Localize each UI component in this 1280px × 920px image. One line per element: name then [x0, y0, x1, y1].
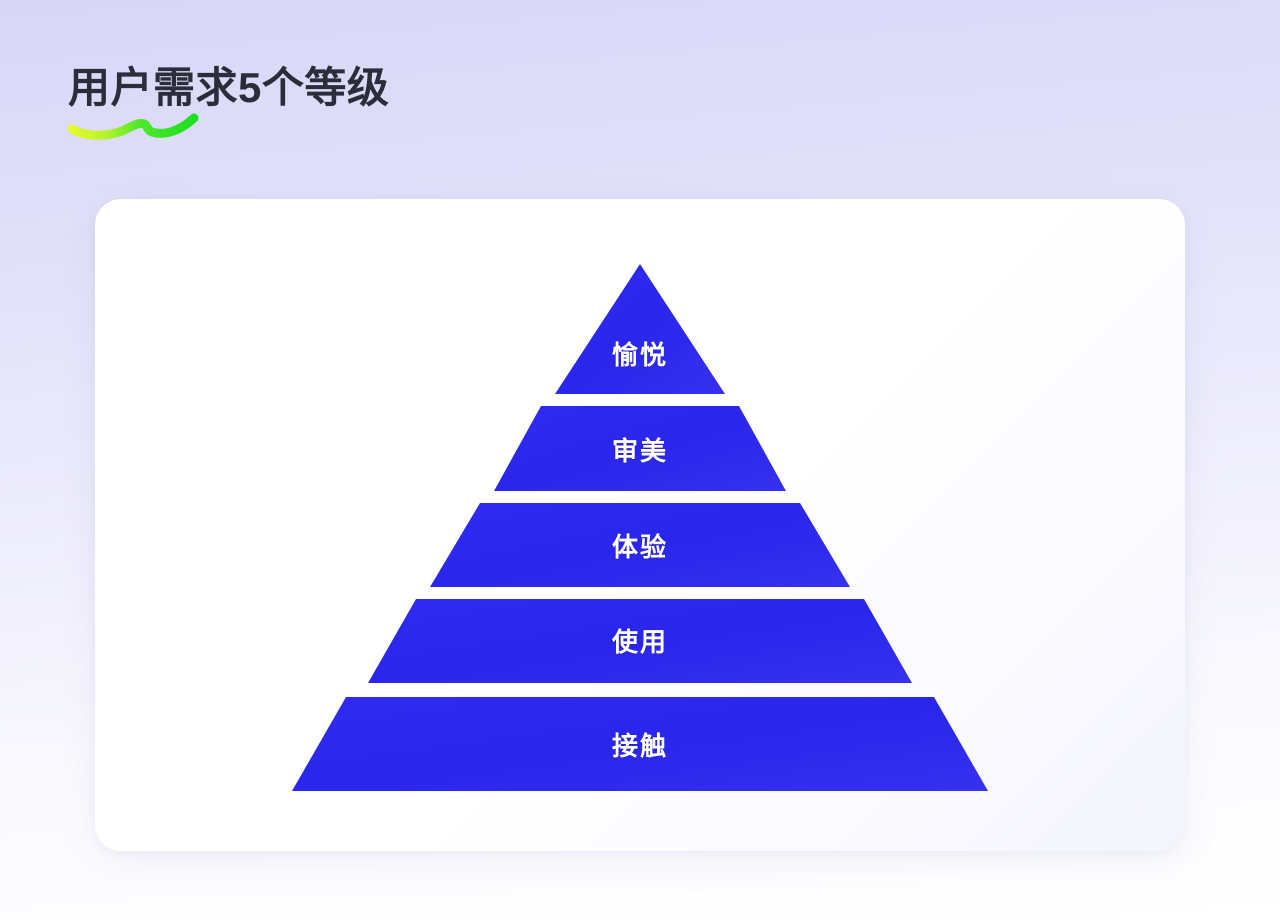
pyramid-tier-2-label: 使用	[510, 627, 770, 657]
pyramid-tier-3-label: 体验	[510, 532, 770, 562]
pyramid-tier-5-label: 愉悦	[510, 340, 770, 370]
pyramid-card: 愉悦 审美 体验 使用 接触	[95, 199, 1185, 851]
slide-canvas: 用户需求5个等级	[0, 0, 1280, 920]
pyramid-tier-4-label: 审美	[510, 436, 770, 466]
title-block: 用户需求5个等级	[68, 58, 668, 148]
pyramid-tier-1-label: 接触	[510, 731, 770, 761]
pyramid-tier-5-shape[interactable]	[555, 264, 725, 394]
page-title: 用户需求5个等级	[68, 58, 389, 118]
pyramid-diagram: 愉悦 审美 体验 使用 接触	[95, 199, 1185, 851]
